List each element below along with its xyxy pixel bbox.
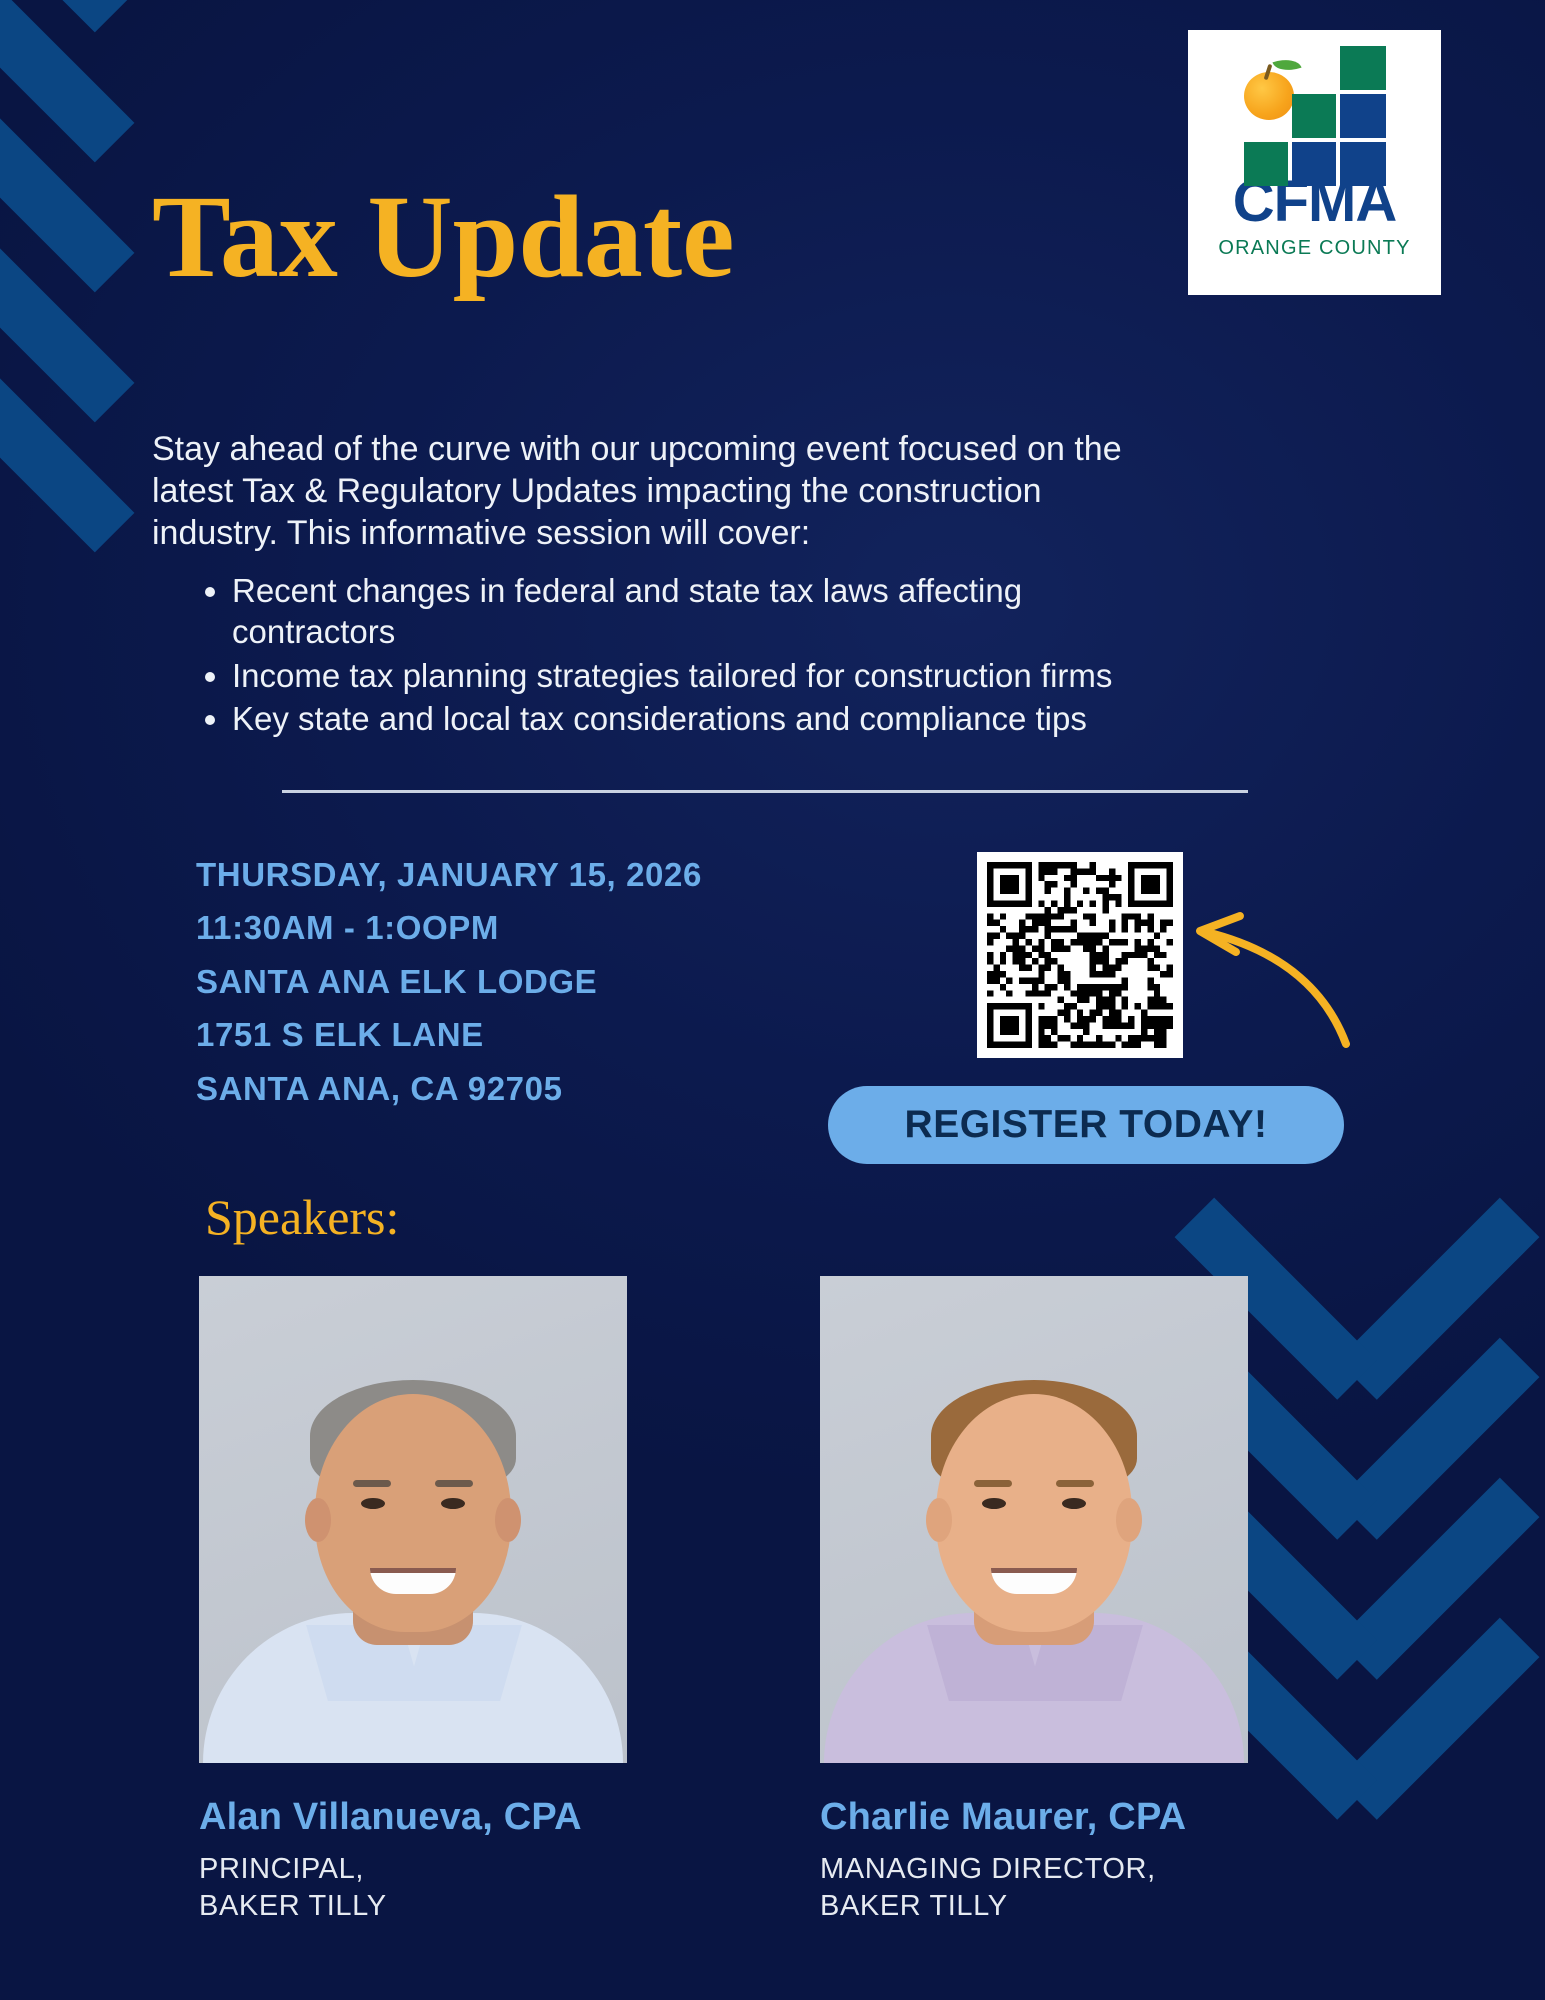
speaker-photo-alan-villanueva xyxy=(199,1276,627,1763)
event-time: 11:30AM - 1:OOPM xyxy=(196,901,702,954)
curved-arrow-left-icon xyxy=(1178,908,1358,1048)
chevron-decoration-bottom-right xyxy=(1255,1360,1545,2000)
speaker-photo-charlie-maurer xyxy=(820,1276,1248,1763)
orange-fruit-icon xyxy=(1244,72,1294,120)
event-date: THURSDAY, JANUARY 15, 2026 xyxy=(196,848,702,901)
speaker-role: MANAGING DIRECTOR, BAKER TILLY xyxy=(820,1851,1248,1925)
event-street: 1751 S ELK LANE xyxy=(196,1008,702,1061)
logo-chapter: ORANGE COUNTY xyxy=(1218,237,1410,260)
cfma-logo: CFMA ORANGE COUNTY xyxy=(1188,30,1441,295)
section-divider xyxy=(282,790,1248,793)
qr-code[interactable] xyxy=(977,852,1183,1058)
list-item: Key state and local tax considerations a… xyxy=(232,698,1158,739)
logo-squares-icon xyxy=(1240,46,1390,171)
session-topics-list: Recent changes in federal and state tax … xyxy=(188,570,1158,741)
speaker-name: Charlie Maurer, CPA xyxy=(820,1796,1248,1839)
event-details: THURSDAY, JANUARY 15, 2026 11:30AM - 1:O… xyxy=(196,848,702,1115)
speakers-heading: Speakers: xyxy=(205,1188,399,1246)
register-today-button[interactable]: REGISTER TODAY! xyxy=(828,1086,1344,1164)
flyer-canvas: CFMA ORANGE COUNTY Tax Update Stay ahead… xyxy=(0,0,1545,2000)
qr-code-image xyxy=(987,862,1173,1048)
event-venue: SANTA ANA ELK LODGE xyxy=(196,955,702,1008)
speaker-role: PRINCIPAL, BAKER TILLY xyxy=(199,1851,627,1925)
intro-paragraph: Stay ahead of the curve with our upcomin… xyxy=(152,428,1142,554)
speaker-card: Charlie Maurer, CPA MANAGING DIRECTOR, B… xyxy=(820,1276,1248,1925)
speaker-name: Alan Villanueva, CPA xyxy=(199,1796,627,1839)
list-item: Income tax planning strategies tailored … xyxy=(232,655,1158,696)
event-city-state-zip: SANTA ANA, CA 92705 xyxy=(196,1062,702,1115)
speaker-card: Alan Villanueva, CPA PRINCIPAL, BAKER TI… xyxy=(199,1276,627,1925)
page-title: Tax Update xyxy=(152,178,735,296)
list-item: Recent changes in federal and state tax … xyxy=(232,570,1158,653)
